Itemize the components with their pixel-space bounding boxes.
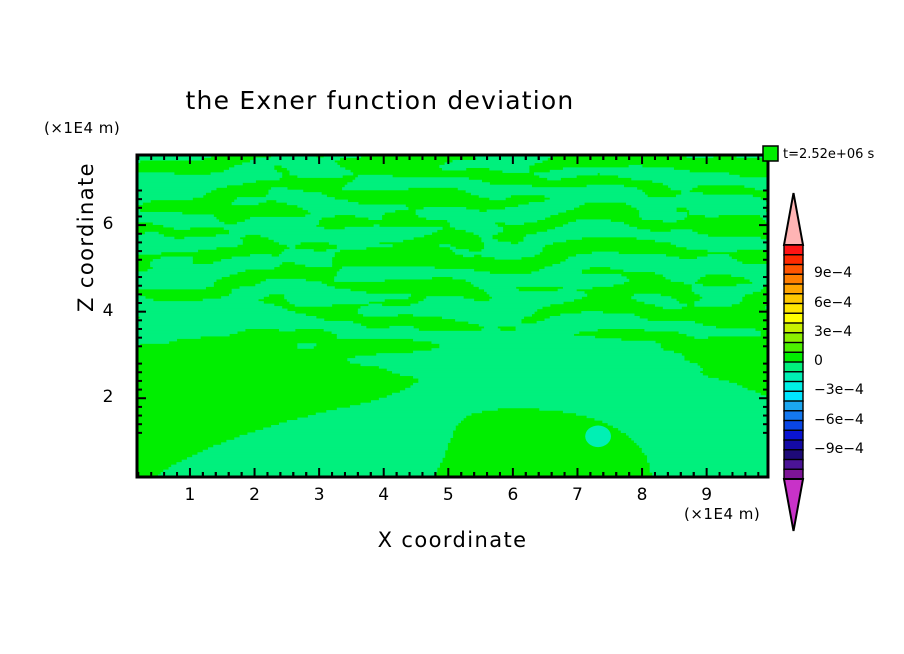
colorbar-band — [784, 352, 803, 362]
colorbar-cap-bottom — [784, 479, 803, 531]
y-tick-label: 2 — [93, 387, 123, 407]
colorbar-band — [784, 245, 803, 255]
x-tick-label: 7 — [557, 485, 597, 505]
x-tick-label: 2 — [235, 485, 275, 505]
x-tick-label: 1 — [170, 485, 210, 505]
colorbar-tick-label: 6e−4 — [814, 295, 852, 311]
colorbar-band — [784, 460, 803, 470]
contour-plot — [0, 0, 904, 654]
colorbar-band — [784, 411, 803, 421]
x-tick-label: 4 — [364, 485, 404, 505]
colorbar-band — [784, 343, 803, 353]
x-tick-label: 8 — [622, 485, 662, 505]
colorbar-band — [784, 274, 803, 284]
x-tick-label: 6 — [493, 485, 533, 505]
colorbar-cap-top — [784, 193, 803, 245]
colorbar-tick-label: 3e−4 — [814, 324, 852, 340]
colorbar-band — [784, 391, 803, 401]
x-tick-label: 9 — [687, 485, 727, 505]
colorbar-band — [784, 313, 803, 323]
colorbar-band — [784, 333, 803, 343]
colorbar-band — [784, 430, 803, 440]
y-tick-label: 6 — [93, 214, 123, 234]
colorbar-band — [784, 450, 803, 460]
colorbar-tick-label: 0 — [814, 353, 823, 369]
colorbar-band — [784, 284, 803, 294]
colorbar-tick-label: 9e−4 — [814, 265, 852, 281]
colorbar-band — [784, 401, 803, 411]
colorbar-band — [784, 469, 803, 479]
colorbar-band — [784, 440, 803, 450]
colorbar-tick-label: −3e−4 — [814, 382, 864, 398]
timestamp-swatch — [763, 146, 778, 161]
colorbar-band — [784, 304, 803, 314]
colorbar-band — [784, 372, 803, 382]
colorbar-band — [784, 362, 803, 372]
colorbar-tick-label: −9e−4 — [814, 441, 864, 457]
colorbar-band — [784, 294, 803, 304]
colorbar — [784, 193, 803, 531]
colorbar-band — [784, 323, 803, 333]
x-tick-label: 3 — [299, 485, 339, 505]
x-tick-label: 5 — [428, 485, 468, 505]
plot-canvas: the Exner function deviation (×1E4 m) (×… — [0, 0, 904, 654]
colorbar-band — [784, 421, 803, 431]
colorbar-band — [784, 265, 803, 275]
colorbar-band — [784, 255, 803, 265]
y-tick-label: 4 — [93, 301, 123, 321]
colorbar-tick-label: −6e−4 — [814, 412, 864, 428]
colorbar-band — [784, 382, 803, 392]
